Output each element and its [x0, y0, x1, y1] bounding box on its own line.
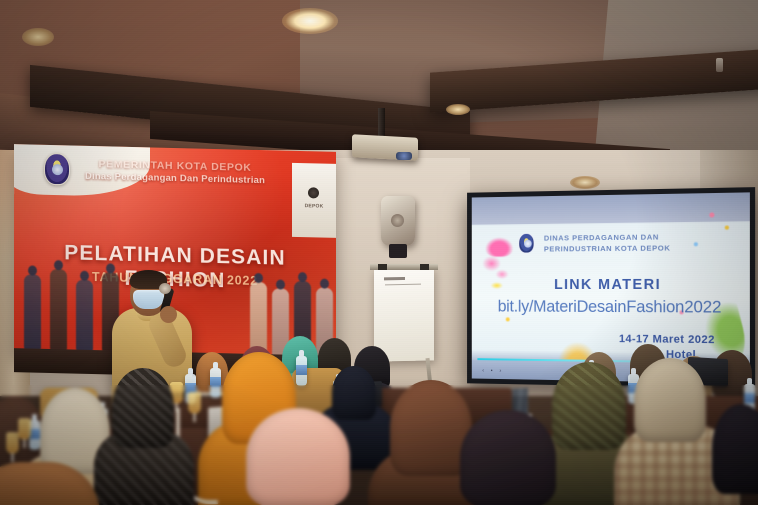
- fashion-sketch-figure: [24, 274, 41, 350]
- sprinkler-head-icon: [716, 58, 723, 72]
- flipchart-easel: [374, 267, 434, 361]
- banner-sponsor-logo-panel: DEPOK: [292, 163, 336, 238]
- fashion-sketch-figure: [250, 282, 267, 356]
- flipchart-handwriting: [384, 277, 422, 281]
- attendee-head: [712, 404, 758, 494]
- attendee-head: [634, 358, 706, 442]
- attendee-head: [460, 410, 556, 505]
- sponsor-logo-icon: [308, 187, 319, 198]
- slide-date: 14-17 Maret 2022: [619, 333, 715, 346]
- flipchart-clip: [378, 264, 387, 270]
- fashion-sketch-figure: [76, 280, 93, 352]
- slide-dot-decoration: [725, 225, 729, 229]
- slide-navigation-hint: ‹ • ›: [482, 368, 504, 374]
- slide-depok-emblem-icon: [518, 233, 534, 254]
- attendee-head: [332, 366, 376, 420]
- drinking-glass: [6, 432, 19, 454]
- microphone-head-icon: [159, 283, 171, 294]
- projector-lens-icon: [396, 152, 412, 160]
- downlight-icon: [22, 28, 54, 46]
- presenter-face-mask: [133, 290, 164, 309]
- attendee-head: [552, 362, 626, 450]
- slide-org-line1: DINAS PERDAGANGAN DAN: [544, 233, 659, 243]
- wall-speaker-bracket: [389, 244, 407, 258]
- slide-org-line2: PERINDUSTRIAN KOTA DEPOK: [544, 244, 671, 254]
- flipchart-clip: [420, 264, 429, 270]
- seminar-photograph: PEMERINTAH KOTA DEPOK Dinas Perdagangan …: [0, 0, 758, 505]
- water-bottle: [296, 356, 307, 386]
- slide-top-band: [472, 192, 750, 224]
- slide-floral-decoration: [482, 255, 501, 271]
- slide-url: bit.ly/MateriDesainFashion2022: [472, 298, 750, 318]
- slide-heading: LINK MATERI: [472, 277, 750, 293]
- attendee-head: [246, 408, 350, 505]
- fashion-sketch-figure: [50, 269, 67, 351]
- sponsor-logo-label: DEPOK: [299, 203, 329, 210]
- presenter-hand: [160, 306, 177, 323]
- slide-dot-decoration: [506, 317, 510, 321]
- water-bottle: [210, 368, 221, 398]
- attendee-head: [112, 368, 174, 448]
- slide-dot-decoration: [693, 243, 697, 247]
- drinking-glass: [18, 418, 31, 440]
- downlight-icon: [570, 176, 600, 189]
- downlight-icon: [446, 104, 470, 115]
- slide-floral-decoration: [485, 237, 514, 257]
- downlight-icon: [282, 8, 338, 34]
- projection-screen: DINAS PERDAGANGAN DAN PERINDUSTRIAN KOTA…: [472, 192, 750, 383]
- wall-speaker: [381, 196, 415, 246]
